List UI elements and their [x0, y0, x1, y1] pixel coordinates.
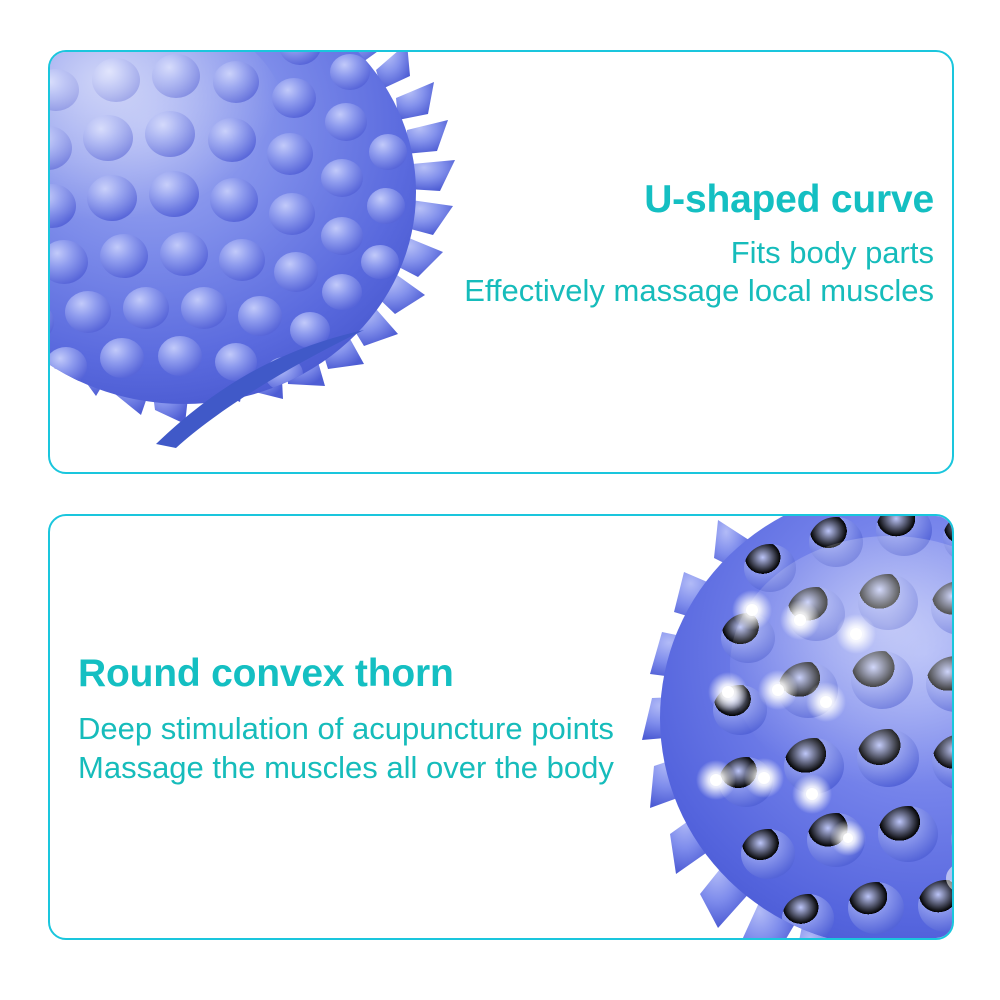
- thorn-tip-highlights: [696, 590, 876, 856]
- panel-subline-top-1: Fits body parts: [464, 236, 934, 271]
- panel-text-bottom: Round convex thorn Deep stimulation of a…: [78, 652, 614, 786]
- panel-heading-u-shaped-curve: U-shaped curve: [464, 178, 934, 222]
- decorative-swoosh: [150, 292, 370, 452]
- infographic-page: U-shaped curve Fits body parts Effective…: [0, 0, 1000, 1000]
- panel-subline-top-2: Effectively massage local muscles: [464, 274, 934, 309]
- panel-heading-round-convex-thorn: Round convex thorn: [78, 652, 614, 696]
- massage-ball-image-bottom: [640, 514, 954, 940]
- panel-subline-bottom-1: Deep stimulation of acupuncture points: [78, 712, 614, 747]
- feature-panel-round-convex-thorn: Round convex thorn Deep stimulation of a…: [48, 514, 954, 940]
- massage-ball-image-top: [48, 50, 458, 446]
- feature-panel-u-shaped-curve: U-shaped curve Fits body parts Effective…: [48, 50, 954, 474]
- panel-subline-bottom-2: Massage the muscles all over the body: [78, 751, 614, 786]
- panel-text-top: U-shaped curve Fits body parts Effective…: [464, 178, 934, 309]
